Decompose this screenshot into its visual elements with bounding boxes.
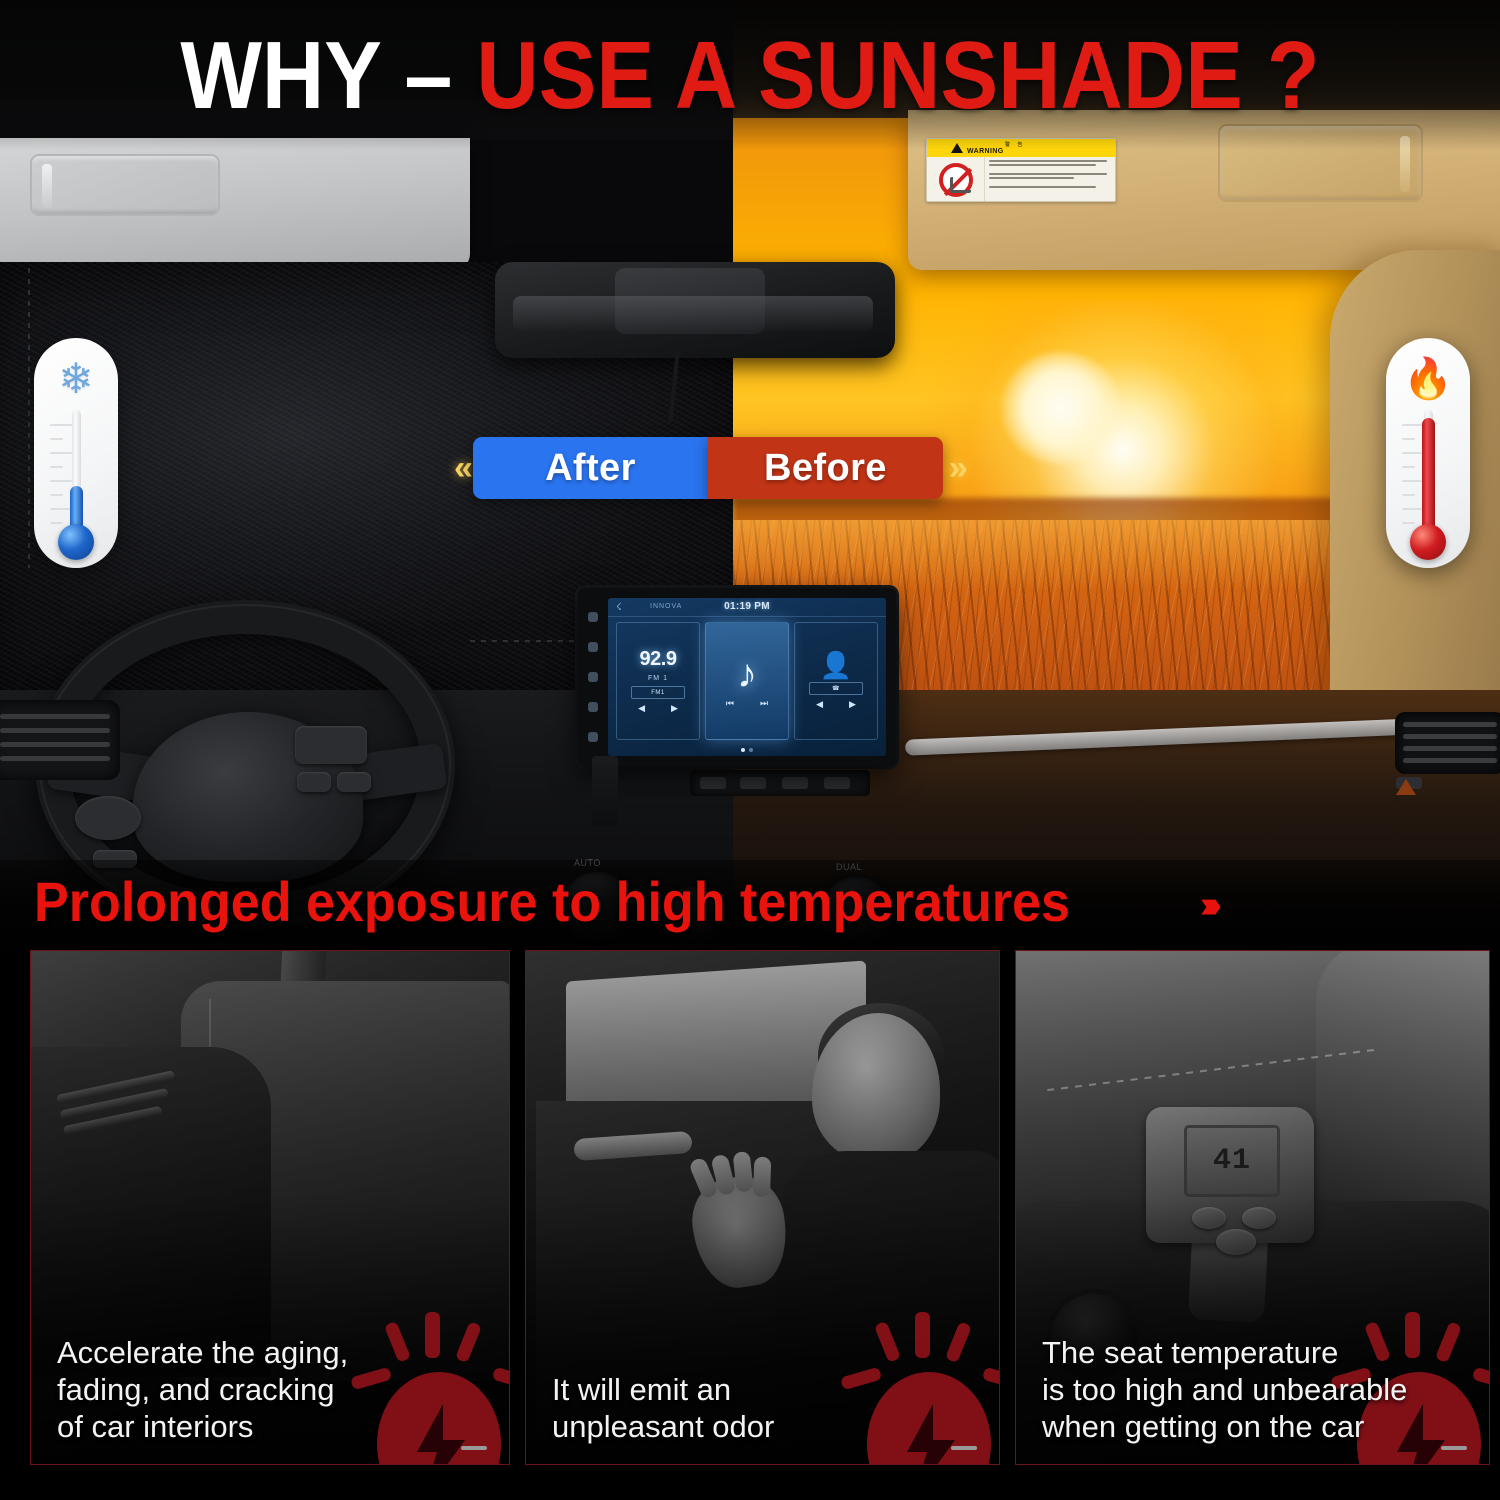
- ivi-back-button[interactable]: [588, 732, 598, 742]
- media-tile[interactable]: ♪ ⏮ ⏭: [705, 622, 789, 740]
- music-note-icon: ♪: [737, 654, 757, 694]
- infotainment-screen[interactable]: ☇ INNOVA 01:19 PM 92.9 FM 1 FM1 ◀ ▶: [608, 598, 886, 756]
- ivi-power-button[interactable]: [588, 612, 598, 622]
- radio-tile[interactable]: 92.9 FM 1 FM1 ◀ ▶: [616, 622, 700, 740]
- ivi-volume-button[interactable]: [588, 672, 598, 682]
- headline-chevrons-icon: ›››: [1200, 884, 1214, 927]
- page-dot-inactive[interactable]: [749, 748, 753, 752]
- media-prev-icon[interactable]: ⏮: [726, 698, 734, 709]
- warning-label-header: WARNING 警 告: [927, 139, 1115, 157]
- thermometer-bulb-cold: [58, 524, 94, 560]
- phone-next-icon[interactable]: ▶: [849, 699, 856, 710]
- hazard-light-button[interactable]: [1396, 777, 1422, 789]
- thermometer-mercury-hot: [1422, 418, 1435, 538]
- person-icon: 👤: [820, 652, 852, 678]
- warning-heading: WARNING: [967, 148, 1004, 155]
- infotainment-side-buttons[interactable]: [582, 602, 604, 752]
- infotainment-clock: 01:19 PM: [724, 601, 770, 612]
- ivi-apps-button[interactable]: [588, 702, 598, 712]
- steering-mode-button: [337, 772, 371, 792]
- radio-band: FM 1: [648, 675, 668, 682]
- chevron-right-icon: »: [943, 451, 968, 485]
- radio-preset-chip[interactable]: FM1: [631, 686, 685, 699]
- panel-unpleasant-odor: It will emit an unpleasant odor: [525, 950, 1000, 1465]
- infographic-canvas: WARNING 警 告: [0, 0, 1500, 1500]
- page-title: WHY – USE A SUNSHADE ?: [75, 28, 1425, 124]
- panel-aging-fading-cracking: Accelerate the aging, fading, and cracki…: [30, 950, 510, 1465]
- sunshade-stitching-left: [28, 268, 30, 568]
- steering-menu-button: [297, 772, 331, 792]
- panel-caption-3: The seat temperature is too high and unb…: [1042, 1335, 1475, 1446]
- steering-dpad-button: [75, 796, 141, 840]
- after-badge[interactable]: After: [473, 437, 708, 499]
- steering-cruise-button: [295, 726, 367, 764]
- rearview-mirror-glass: [513, 296, 873, 332]
- title-word-why: WHY: [180, 22, 380, 129]
- infotainment-status-bar: ☇ INNOVA 01:19 PM: [608, 598, 886, 617]
- title-separator: –: [404, 22, 452, 129]
- infotainment-brand: INNOVA: [650, 603, 682, 610]
- warning-cjk-text: 警 告: [1005, 141, 1025, 148]
- flame-icon: 🔥: [1398, 348, 1458, 410]
- ivi-home-button[interactable]: [588, 642, 598, 652]
- panel-caption-1: Accelerate the aging, fading, and cracki…: [57, 1335, 495, 1446]
- before-badge[interactable]: Before: [708, 437, 943, 499]
- panel-seat-temperature: EMIS °C 41: [1015, 950, 1490, 1465]
- sun-disc: [1001, 352, 1121, 464]
- climate-button-row: [690, 770, 870, 796]
- snowflake-icon: ❄: [46, 348, 106, 410]
- passenger-air-vent: [1395, 712, 1500, 774]
- phone-prev-icon[interactable]: ◀: [816, 699, 823, 710]
- chevron-left-icon: «: [448, 451, 473, 485]
- radio-seek-controls[interactable]: ◀ ▶: [638, 703, 678, 714]
- rearview-mirror: [495, 262, 895, 358]
- hot-thermometer: 🔥: [1386, 338, 1470, 568]
- phone-nav-controls[interactable]: ◀ ▶: [816, 699, 856, 710]
- before-after-badges: « After Before »: [448, 432, 1008, 504]
- media-transport-controls[interactable]: ⏮ ⏭: [726, 698, 768, 709]
- visor-mirror-after: [30, 154, 220, 216]
- phone-tile[interactable]: 👤 ☎ ◀ ▶: [794, 622, 878, 740]
- infotainment-page-dots[interactable]: [741, 748, 753, 752]
- radio-seek-next-icon[interactable]: ▶: [671, 703, 678, 714]
- panel-caption-2: It will emit an unpleasant odor: [552, 1372, 985, 1446]
- thermometer-bulb-hot: [1410, 524, 1446, 560]
- headline-text: Prolonged exposure to high temperatures: [34, 874, 1070, 930]
- no-rear-facing-child-seat-icon: [939, 163, 973, 197]
- warning-pictogram: [927, 157, 985, 202]
- visor-mirror-before: [1218, 124, 1423, 202]
- caption-underscore-2: [951, 1446, 977, 1450]
- radio-seek-prev-icon[interactable]: ◀: [638, 703, 645, 714]
- caption-underscore-3: [1441, 1446, 1467, 1450]
- warning-fineprint: [985, 157, 1115, 202]
- infotainment-tiles: 92.9 FM 1 FM1 ◀ ▶ ♪ ⏮ ⏭: [616, 622, 878, 740]
- warning-triangle-icon: [951, 143, 963, 153]
- hero-split-comparison: WARNING 警 告: [0, 0, 1500, 950]
- caption-underscore-1: [461, 1446, 487, 1450]
- page-dot-active[interactable]: [741, 748, 745, 752]
- driver-air-vent: [0, 700, 120, 780]
- infotainment-mount-bracket: [592, 756, 618, 826]
- infotainment-head-unit[interactable]: ☇ INNOVA 01:19 PM 92.9 FM 1 FM1 ◀ ▶: [578, 588, 896, 766]
- media-next-icon[interactable]: ⏭: [760, 698, 768, 709]
- warning-label-body: [927, 157, 1115, 202]
- visor-warning-label: WARNING 警 告: [926, 138, 1116, 202]
- bluetooth-icon: ☇: [616, 602, 622, 613]
- radio-frequency: 92.9: [640, 648, 677, 671]
- phone-status-chip[interactable]: ☎: [809, 682, 863, 695]
- sun-visor-before: WARNING 警 告: [908, 110, 1500, 270]
- cold-thermometer: ❄: [34, 338, 118, 568]
- benefit-panels: Accelerate the aging, fading, and cracki…: [0, 950, 1500, 1500]
- title-word-use-a-sunshade: USE A SUNSHADE ?: [476, 22, 1319, 129]
- sun-visor-after: [0, 138, 470, 270]
